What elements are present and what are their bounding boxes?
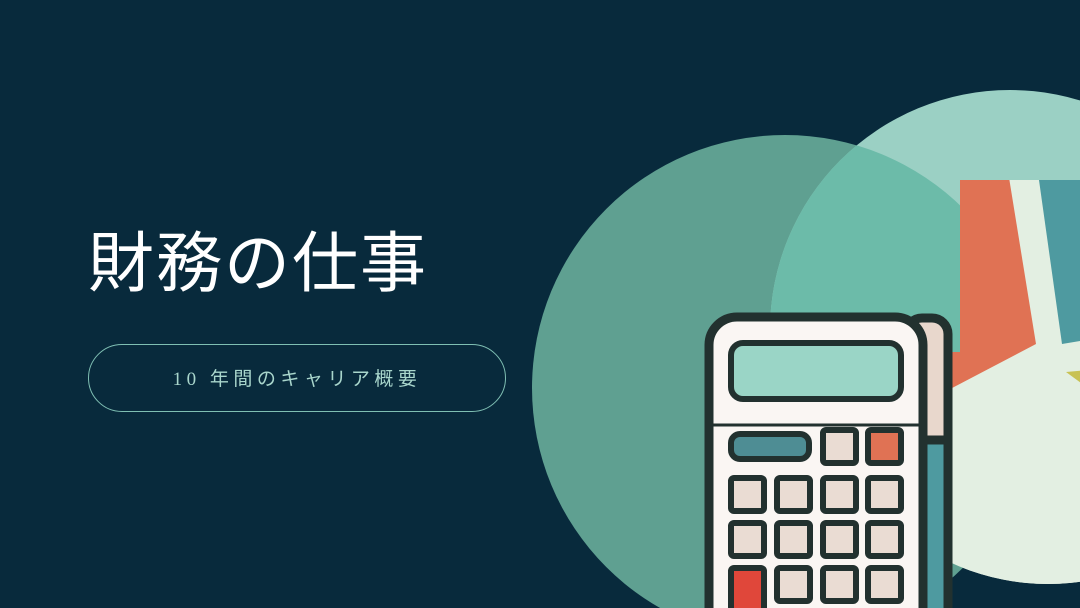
calculator-key [868, 478, 901, 511]
calculator-key [777, 523, 810, 556]
title-text-block: 財務の仕事 10 年間のキャリア概要 [88, 228, 558, 412]
pie-foreground [816, 120, 1080, 584]
calculator-illustration [709, 317, 948, 608]
pie-slices [809, 116, 1080, 492]
calculator-key-orange [868, 430, 901, 463]
circle-overlap [770, 90, 1080, 570]
calculator-key [868, 523, 901, 556]
calculator-key-teal-wide [731, 434, 809, 459]
calculator-side-top [906, 318, 948, 508]
pie-slice-yellow [1066, 352, 1080, 492]
calculator-display [731, 343, 901, 399]
pie-base-circle [816, 120, 1080, 584]
calculator-key [731, 523, 764, 556]
calculator-key [823, 478, 856, 511]
calculator-key [731, 478, 764, 511]
page-title: 財務の仕事 [88, 228, 558, 302]
calculator-body [709, 317, 923, 608]
calculator-key [823, 523, 856, 556]
title-slide: 財務の仕事 10 年間のキャリア概要 [0, 0, 1080, 608]
calculator-key [777, 478, 810, 511]
pie-slice-teal [1030, 116, 1080, 344]
calculator-key-red [731, 568, 764, 608]
subtitle-pill: 10 年間のキャリア概要 [88, 344, 506, 412]
subtitle-pill-label: 10 年間のキャリア概要 [173, 364, 422, 391]
calculator-key [777, 568, 810, 601]
calculator-side-bottom [906, 440, 948, 608]
calculator-key [823, 568, 856, 601]
calculator-key [868, 568, 901, 601]
calculator-key [823, 430, 856, 463]
mint-circle [770, 90, 1080, 570]
pie-slice-orange [809, 122, 1036, 451]
large-teal-circle [532, 135, 1038, 608]
